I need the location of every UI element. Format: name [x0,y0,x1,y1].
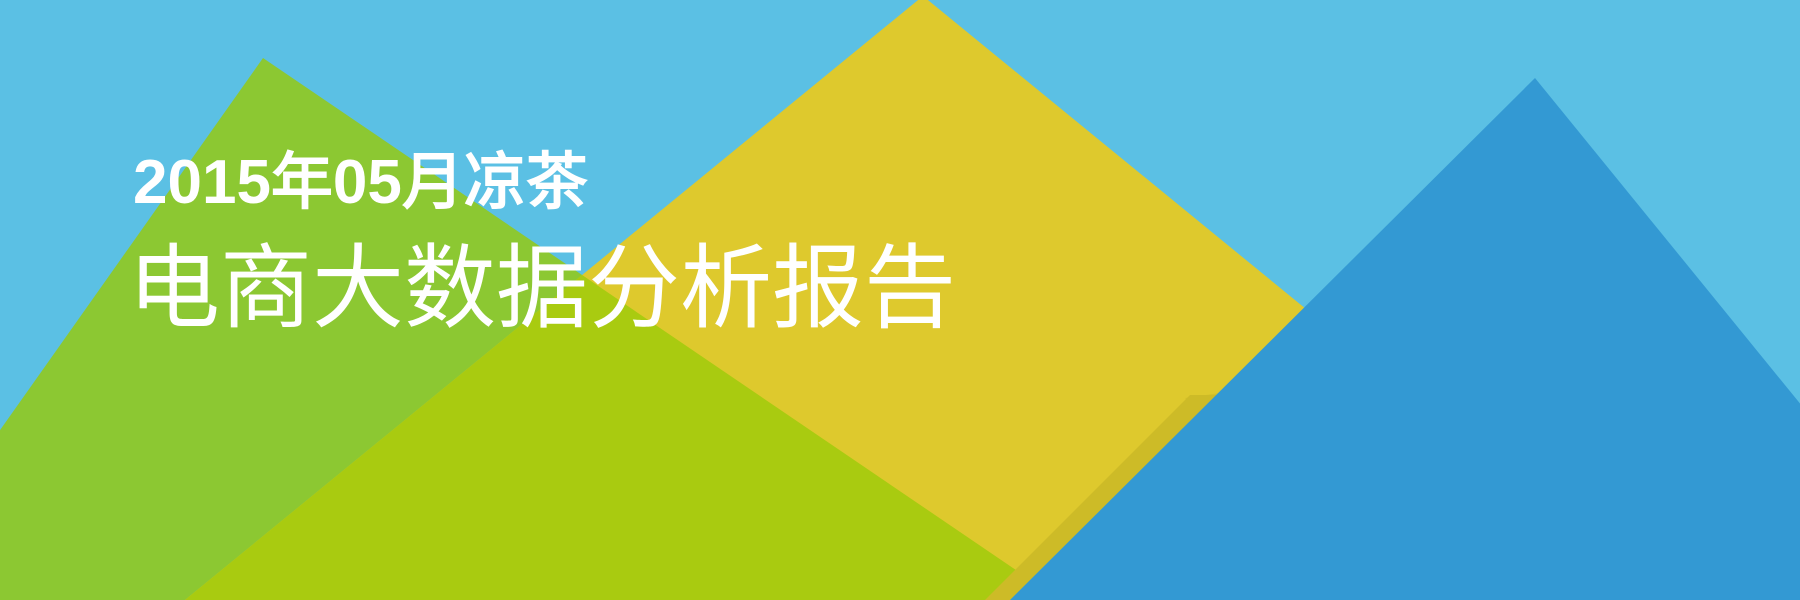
slide-canvas: 2015年05月凉茶 电商大数据分析报告 [0,0,1800,600]
background-graphic [0,0,1800,600]
